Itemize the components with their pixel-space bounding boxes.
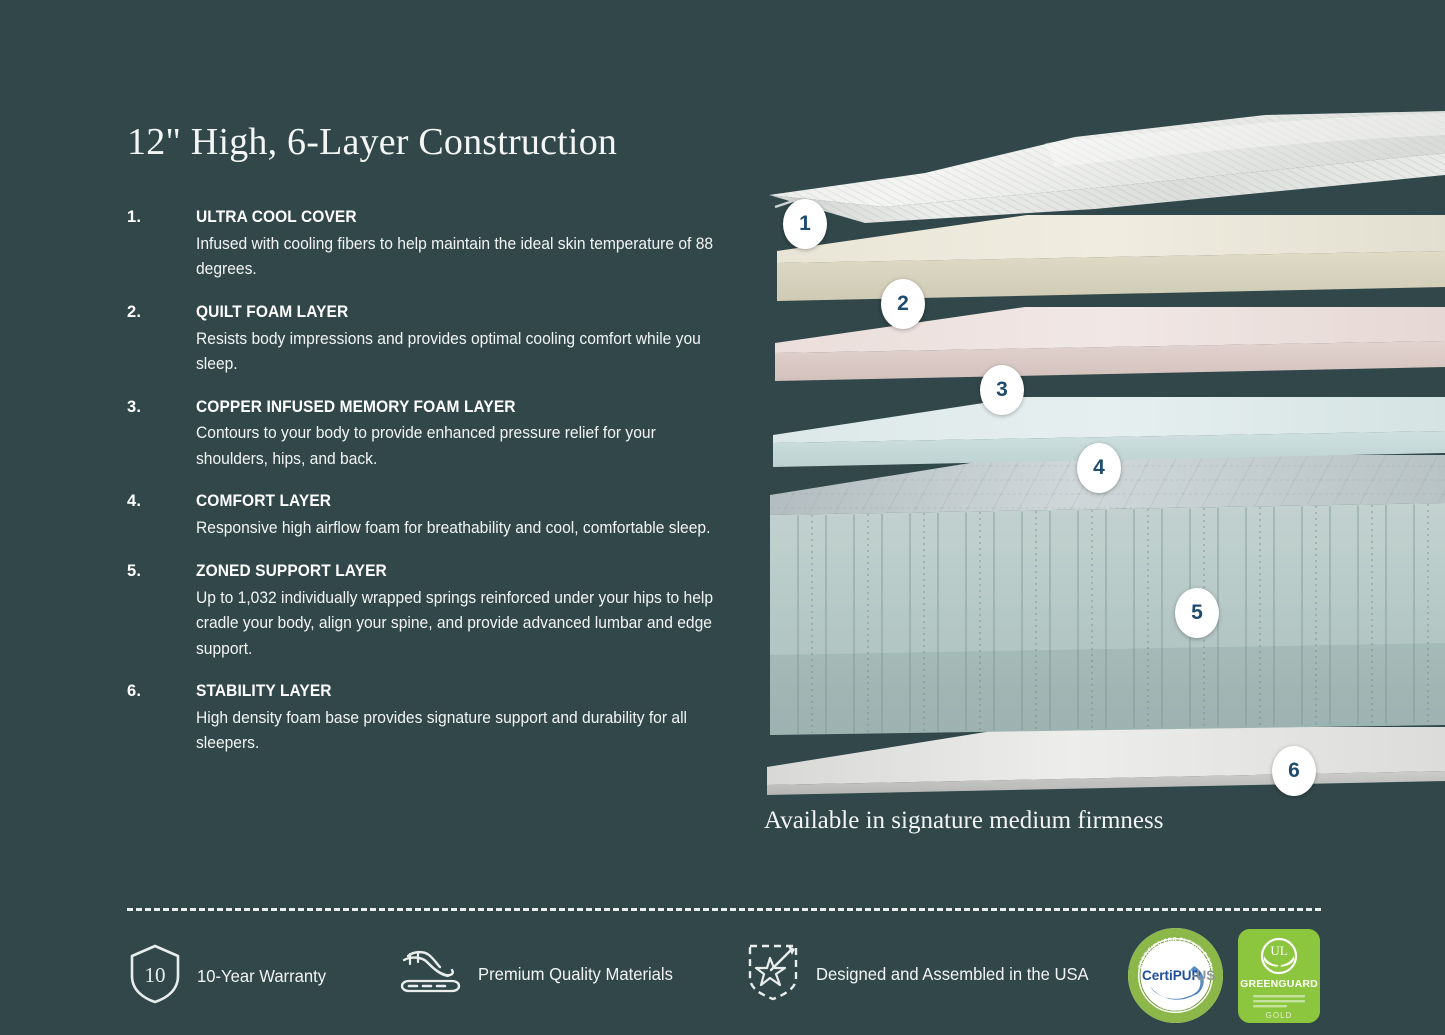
layer-badge-6: 6 (1272, 746, 1316, 796)
list-item-number: 2. (127, 302, 196, 324)
list-item-description: Contours to your body to provide enhance… (196, 420, 724, 471)
list-item-heading: COMFORT LAYER (196, 491, 695, 513)
layer-5-zoned-support (770, 455, 1445, 735)
layer-badge-5: 5 (1175, 588, 1219, 638)
list-item-heading: QUILT FOAM LAYER (196, 302, 695, 324)
layer-6-stability (767, 727, 1445, 795)
certipur-suffix: -US (1192, 968, 1215, 983)
list-item-description: Up to 1,032 individually wrapped springs… (196, 585, 724, 662)
greenguard-tier: GOLD (1266, 1011, 1293, 1020)
illustration-caption: Available in signature medium firmness (764, 807, 1163, 835)
certipur-us-logo: CERTIFIED FOR FLEXIBLE POLYURETHANE FOAM… (1128, 928, 1223, 1023)
list-item: 3. COPPER INFUSED MEMORY FOAM LAYER Cont… (127, 397, 727, 472)
layer-badge-1: 1 (783, 199, 827, 249)
list-item: 1. ULTRA COOL COVER Infused with cooling… (127, 207, 727, 282)
list-item-heading: STABILITY LAYER (196, 681, 695, 703)
footer-divider (127, 908, 1321, 911)
list-item-number: 4. (127, 491, 196, 513)
list-item: 4. COMFORT LAYER Responsive high airflow… (127, 491, 727, 540)
page-title: 12" High, 6-Layer Construction (127, 120, 617, 164)
list-item-heading: ZONED SUPPORT LAYER (196, 561, 695, 583)
list-item-number: 1. (127, 207, 196, 229)
list-item-heading: ULTRA COOL COVER (196, 207, 695, 229)
list-item-heading: COPPER INFUSED MEMORY FOAM LAYER (196, 397, 695, 419)
ul-mark: UL (1270, 943, 1287, 958)
list-item-number: 6. (127, 681, 196, 703)
list-item-description: High density foam base provides signatur… (196, 705, 724, 756)
layer-badge-2: 2 (881, 279, 925, 329)
layer-2-quilt-foam (777, 215, 1445, 301)
trust-label-warranty: 10-Year Warranty (197, 966, 326, 987)
warranty-years-text: 10 (145, 963, 166, 987)
shield-warranty-icon: 10 (127, 942, 183, 1011)
list-item-description: Resists body impressions and provides op… (196, 326, 724, 377)
info-column: 12" High, 6-Layer Construction 1. ULTRA … (0, 0, 745, 880)
layer-badge-3: 3 (980, 365, 1024, 415)
list-item-description: Responsive high airflow foam for breatha… (196, 515, 724, 541)
trust-item-materials: Premium Quality Materials (396, 942, 683, 1007)
trust-item-warranty: 10 10-Year Warranty (127, 942, 333, 1011)
certification-logos: CERTIFIED FOR FLEXIBLE POLYURETHANE FOAM… (1128, 928, 1320, 1023)
list-item-number: 3. (127, 397, 196, 419)
trust-label-materials: Premium Quality Materials (478, 964, 673, 985)
trust-label-usa: Designed and Assembled in the USA (816, 964, 1089, 985)
mattress-layer-illustration: 1 2 3 4 5 6 (745, 95, 1445, 820)
greenguard-wordmark: GREENGUARD (1240, 978, 1318, 990)
greenguard-gold-logo: UL GREENGUARD GOLD (1238, 929, 1320, 1023)
dashed-shield-star-icon (744, 940, 802, 1009)
trust-item-usa: Designed and Assembled in the USA (744, 940, 1103, 1009)
layer-3-copper-memory-foam (775, 307, 1445, 381)
layer-1-ultra-cool-cover (769, 111, 1445, 223)
layer-badge-4: 4 (1077, 443, 1121, 493)
list-item: 6. STABILITY LAYER High density foam bas… (127, 681, 727, 756)
list-item: 5. ZONED SUPPORT LAYER Up to 1,032 indiv… (127, 561, 727, 661)
list-item: 2. QUILT FOAM LAYER Resists body impress… (127, 302, 727, 377)
list-item-number: 5. (127, 561, 196, 583)
layer-list: 1. ULTRA COOL COVER Infused with cooling… (127, 207, 727, 776)
hand-on-mattress-icon (396, 942, 464, 1007)
list-item-description: Infused with cooling fibers to help main… (196, 231, 724, 282)
